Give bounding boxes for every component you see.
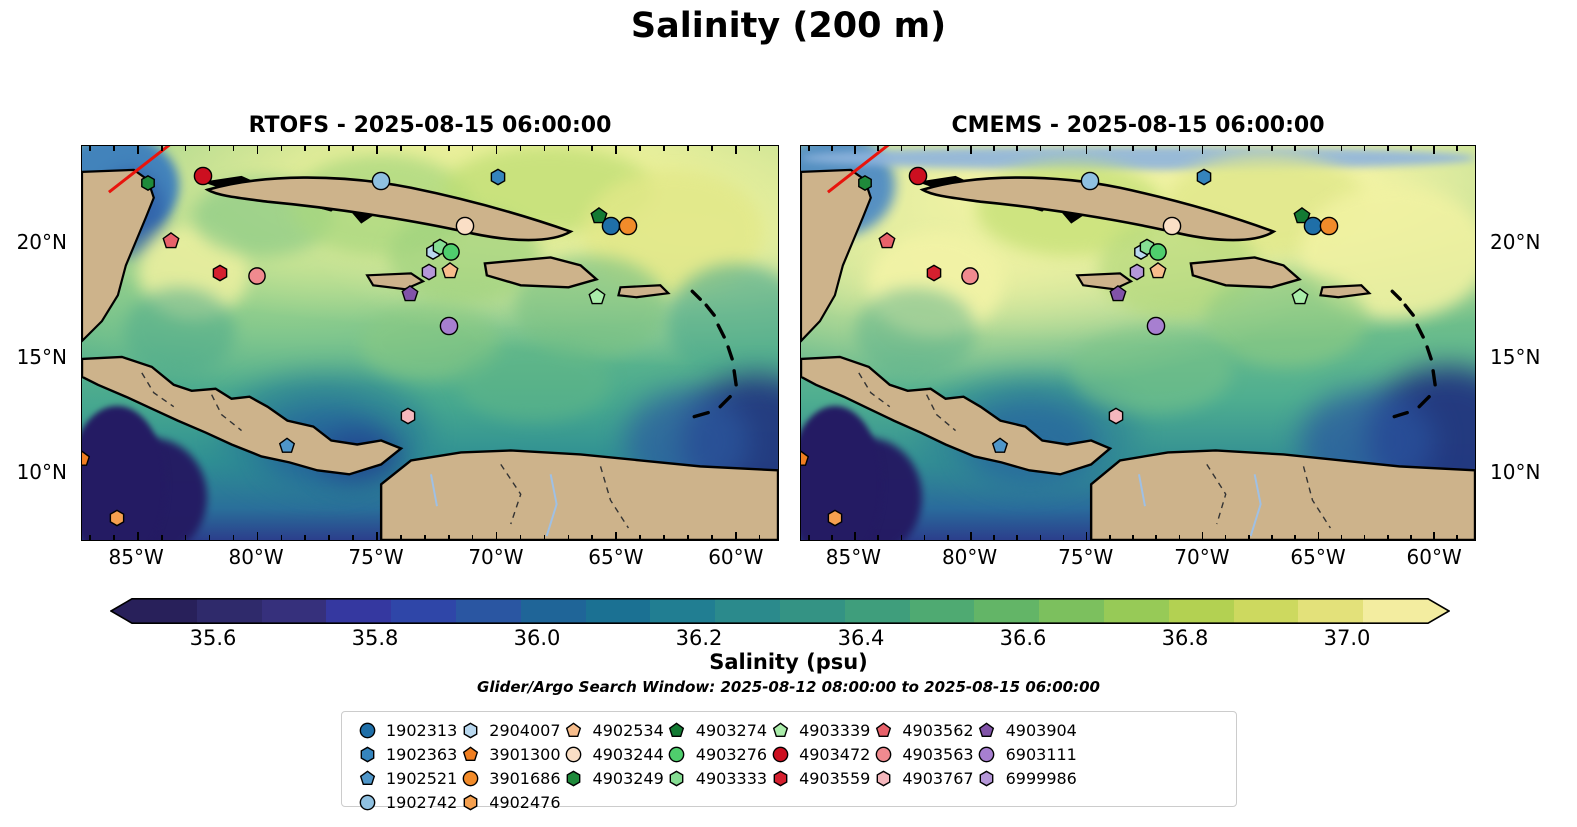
legend-marker-icon bbox=[870, 722, 896, 739]
legend-item-4903904[interactable]: 4903904 bbox=[974, 720, 1077, 741]
axis-tick bbox=[800, 196, 801, 198]
axis-tick bbox=[376, 532, 378, 541]
axis-tick bbox=[800, 151, 801, 153]
axis-tick bbox=[639, 535, 641, 541]
axis-tick bbox=[81, 151, 82, 153]
x-axis-tick-label: 80°W bbox=[228, 545, 283, 569]
axis-tick bbox=[448, 535, 450, 541]
colorbar-tick-label: 36.8 bbox=[1162, 626, 1209, 650]
axis-tick bbox=[800, 173, 801, 175]
axis-tick bbox=[113, 145, 115, 151]
x-axis-tick-label: 75°W bbox=[348, 545, 403, 569]
axis-tick bbox=[800, 403, 801, 405]
legend-item-4903339[interactable]: 4903339 bbox=[767, 720, 870, 741]
axis-tick bbox=[1433, 145, 1435, 154]
axis-tick bbox=[257, 145, 259, 154]
colorbar-tick-label: 36.4 bbox=[838, 626, 885, 650]
axis-tick bbox=[759, 535, 761, 541]
axis-tick bbox=[1063, 535, 1065, 541]
argo-markers-rtofs bbox=[82, 146, 778, 540]
argo-marker-4903472[interactable] bbox=[193, 166, 213, 186]
axis-tick bbox=[1179, 145, 1181, 151]
legend-item-label: 6903111 bbox=[1006, 745, 1077, 764]
legend-marker-icon bbox=[561, 722, 587, 739]
argo-marker-1902742[interactable] bbox=[371, 171, 391, 191]
argo-marker-4903249[interactable] bbox=[140, 175, 157, 192]
axis-tick bbox=[778, 311, 779, 313]
axis-tick bbox=[615, 145, 617, 154]
axis-tick bbox=[800, 448, 801, 450]
axis-tick bbox=[1086, 532, 1088, 541]
argo-marker-3901686[interactable] bbox=[618, 216, 638, 236]
axis-tick bbox=[1456, 535, 1458, 541]
axis-tick bbox=[1475, 494, 1476, 496]
legend-item-4903767[interactable]: 4903767 bbox=[870, 768, 973, 789]
legend-item-label: 1902521 bbox=[386, 769, 457, 788]
x-axis-tick-label: 60°W bbox=[1407, 545, 1462, 569]
legend-marker-icon bbox=[561, 770, 587, 787]
axis-tick bbox=[778, 403, 779, 405]
axis-tick bbox=[800, 494, 801, 496]
map-cmems[interactable] bbox=[800, 145, 1476, 541]
argo-marker-4902534[interactable] bbox=[441, 262, 460, 281]
legend-item-4903333[interactable]: 4903333 bbox=[664, 768, 767, 789]
axis-tick bbox=[81, 357, 82, 359]
axis-tick bbox=[1063, 145, 1065, 151]
axis-tick bbox=[759, 145, 761, 151]
legend-marker-icon bbox=[354, 770, 380, 787]
axis-tick bbox=[1475, 288, 1476, 290]
x-axis-tick-label: 85°W bbox=[826, 545, 881, 569]
axis-tick bbox=[113, 535, 115, 541]
argo-marker-6999986[interactable] bbox=[420, 263, 438, 281]
argo-marker-1902521[interactable] bbox=[991, 437, 1009, 455]
axis-tick bbox=[1410, 535, 1412, 541]
legend-item-1902363[interactable]: 1902363 bbox=[354, 744, 457, 765]
axis-tick bbox=[591, 535, 593, 541]
axis-tick bbox=[1475, 425, 1476, 427]
axis-tick bbox=[808, 535, 810, 541]
colorbar-tick-label: 35.6 bbox=[190, 626, 237, 650]
argo-marker-4903276[interactable] bbox=[441, 242, 460, 261]
axis-tick bbox=[1475, 334, 1476, 336]
argo-markers-cmems bbox=[801, 146, 1475, 540]
legend-item-label: 4903333 bbox=[696, 769, 767, 788]
legend-item-label: 4902476 bbox=[489, 793, 560, 812]
colorbar-segment bbox=[391, 598, 456, 624]
axis-tick bbox=[81, 219, 82, 221]
legend-item-label: 4903249 bbox=[593, 769, 664, 788]
axis-tick bbox=[1248, 145, 1250, 151]
legend-item-6903111[interactable]: 6903111 bbox=[974, 744, 1077, 765]
legend-column: 490327449032764903333 bbox=[664, 720, 767, 813]
argo-marker-4903339[interactable] bbox=[1290, 287, 1309, 306]
legend-item-label: 6999986 bbox=[1006, 769, 1077, 788]
argo-marker-1902742[interactable] bbox=[1080, 171, 1100, 191]
axis-tick bbox=[1294, 535, 1296, 541]
axis-tick bbox=[257, 532, 259, 541]
axis-tick bbox=[1341, 535, 1343, 541]
legend-item-label: 4903904 bbox=[1006, 721, 1077, 740]
panel-rtofs[interactable]: RTOFS - 2025-08-15 06:00:00 bbox=[81, 145, 779, 541]
axis-tick bbox=[1475, 540, 1476, 541]
axis-tick bbox=[800, 380, 801, 382]
colorbar-segment bbox=[650, 598, 715, 624]
argo-marker-4902534[interactable] bbox=[1148, 262, 1167, 281]
axis-tick bbox=[1475, 380, 1476, 382]
legend-item-4903563[interactable]: 4903563 bbox=[870, 744, 973, 765]
legend-item-6999986[interactable]: 6999986 bbox=[974, 768, 1077, 789]
legend-item-label: 1902742 bbox=[386, 793, 457, 812]
y-axis-tick-label: 15°N bbox=[17, 345, 67, 369]
argo-marker-4903244[interactable] bbox=[1162, 216, 1182, 236]
legend-item-label: 4903339 bbox=[799, 721, 870, 740]
axis-tick bbox=[735, 532, 737, 541]
argo-marker-3901300[interactable] bbox=[800, 450, 810, 468]
legend-marker-icon bbox=[664, 722, 690, 739]
axis-tick bbox=[233, 535, 235, 541]
legend-item-4902534[interactable]: 4902534 bbox=[561, 720, 664, 741]
colorbar-gradient bbox=[132, 598, 1428, 624]
legend-marker-icon bbox=[767, 722, 793, 739]
axis-tick bbox=[1341, 145, 1343, 151]
axis-tick bbox=[81, 311, 82, 313]
legend-item-4903276[interactable]: 4903276 bbox=[664, 744, 767, 765]
colorbar-tick-label: 36.6 bbox=[1000, 626, 1047, 650]
axis-tick bbox=[778, 334, 779, 336]
argo-marker-4903562[interactable] bbox=[878, 232, 897, 251]
axis-tick bbox=[800, 219, 801, 221]
axis-tick bbox=[1364, 535, 1366, 541]
axis-tick bbox=[1433, 532, 1435, 541]
legend-item-4903472[interactable]: 4903472 bbox=[767, 744, 870, 765]
argo-marker-4903563[interactable] bbox=[247, 267, 266, 286]
axis-tick bbox=[1475, 219, 1476, 221]
axis-tick bbox=[778, 288, 779, 290]
legend-marker-icon bbox=[974, 746, 1000, 763]
axis-tick bbox=[233, 145, 235, 151]
axis-tick bbox=[137, 532, 139, 541]
axis-tick bbox=[1364, 145, 1366, 151]
colorbar-segment bbox=[456, 598, 521, 624]
axis-tick bbox=[281, 145, 283, 151]
x-axis-tick-label: 75°W bbox=[1058, 545, 1113, 569]
legend-item-4903559[interactable]: 4903559 bbox=[767, 768, 870, 789]
axis-tick bbox=[544, 535, 546, 541]
axis-tick bbox=[1475, 517, 1476, 519]
axis-tick bbox=[1248, 535, 1250, 541]
legend-item-label: 3901686 bbox=[489, 769, 560, 788]
axis-tick bbox=[970, 532, 972, 541]
legend-item-1902313[interactable]: 1902313 bbox=[354, 720, 457, 741]
legend-item-label: 4903559 bbox=[799, 769, 870, 788]
argo-legend[interactable]: 1902313190236319025211902742290400739013… bbox=[341, 711, 1237, 807]
legend-item-label: 4903472 bbox=[799, 745, 870, 764]
axis-tick bbox=[778, 151, 779, 153]
axis-tick bbox=[800, 425, 801, 427]
axis-tick bbox=[137, 145, 139, 154]
argo-marker-4903563[interactable] bbox=[961, 267, 980, 286]
axis-tick bbox=[472, 535, 474, 541]
axis-tick bbox=[854, 145, 856, 154]
legend-item-1902521[interactable]: 1902521 bbox=[354, 768, 457, 789]
argo-marker-1902363[interactable] bbox=[1195, 168, 1213, 186]
axis-tick bbox=[89, 145, 91, 151]
axis-tick bbox=[1225, 145, 1227, 151]
axis-tick bbox=[376, 145, 378, 154]
axis-tick bbox=[800, 357, 801, 359]
axis-tick bbox=[711, 535, 713, 541]
colorbar-segment bbox=[1039, 598, 1104, 624]
colorbar-segment bbox=[521, 598, 586, 624]
axis-tick bbox=[1475, 471, 1476, 473]
axis-tick bbox=[328, 145, 330, 151]
axis-tick bbox=[496, 532, 498, 541]
colorbar-tick-label: 35.8 bbox=[352, 626, 399, 650]
axis-tick bbox=[778, 425, 779, 427]
axis-tick bbox=[663, 535, 665, 541]
argo-marker-4902476[interactable] bbox=[826, 509, 844, 527]
axis-tick bbox=[81, 494, 82, 496]
colorbar-tick-label: 36.2 bbox=[676, 626, 723, 650]
colorbar-tick-label: 37.0 bbox=[1324, 626, 1371, 650]
axis-tick bbox=[800, 471, 801, 473]
axis-tick bbox=[1475, 265, 1476, 267]
argo-marker-4903472[interactable] bbox=[908, 166, 928, 186]
axis-tick bbox=[81, 448, 82, 450]
legend-marker-icon bbox=[354, 794, 380, 811]
axis-tick bbox=[687, 535, 689, 541]
axis-tick bbox=[778, 173, 779, 175]
axis-tick bbox=[1132, 145, 1134, 151]
axis-tick bbox=[808, 145, 810, 151]
axis-tick bbox=[568, 535, 570, 541]
argo-marker-4903562[interactable] bbox=[162, 232, 181, 251]
argo-marker-4903559[interactable] bbox=[211, 264, 229, 282]
argo-marker-6903111[interactable] bbox=[1146, 316, 1166, 336]
legend-marker-icon bbox=[664, 770, 690, 787]
x-axis-tick-label: 65°W bbox=[588, 545, 643, 569]
colorbar-segment bbox=[197, 598, 262, 624]
legend-marker-icon bbox=[664, 746, 690, 763]
axis-tick bbox=[993, 535, 995, 541]
axis-tick bbox=[778, 517, 779, 519]
axis-tick bbox=[800, 265, 801, 267]
axis-tick bbox=[1294, 145, 1296, 151]
map-rtofs[interactable] bbox=[81, 145, 779, 541]
colorbar-segment bbox=[262, 598, 327, 624]
legend-marker-icon bbox=[457, 770, 483, 787]
axis-tick bbox=[1387, 145, 1389, 151]
legend-marker-icon bbox=[767, 770, 793, 787]
legend-marker-icon bbox=[354, 722, 380, 739]
axis-tick bbox=[1132, 535, 1134, 541]
axis-tick bbox=[1109, 145, 1111, 151]
axis-tick bbox=[520, 535, 522, 541]
legend-marker-icon bbox=[354, 746, 380, 763]
panel-cmems[interactable]: CMEMS - 2025-08-15 06:00:00 bbox=[800, 145, 1476, 541]
colorbar[interactable]: 35.635.836.036.236.436.636.837.0 bbox=[110, 598, 1450, 624]
axis-tick bbox=[81, 540, 82, 541]
axis-tick bbox=[831, 145, 833, 151]
colorbar-extend-max bbox=[1428, 598, 1450, 624]
axis-tick bbox=[663, 145, 665, 151]
axis-tick bbox=[1271, 145, 1273, 151]
argo-marker-4903249[interactable] bbox=[857, 175, 874, 192]
colorbar-segment bbox=[715, 598, 780, 624]
axis-tick bbox=[1155, 535, 1157, 541]
x-axis-tick-label: 70°W bbox=[468, 545, 523, 569]
argo-marker-3901686[interactable] bbox=[1319, 216, 1339, 236]
axis-tick bbox=[778, 448, 779, 450]
legend-item-3901300[interactable]: 3901300 bbox=[457, 744, 560, 765]
axis-tick bbox=[924, 535, 926, 541]
legend-item-4903274[interactable]: 4903274 bbox=[664, 720, 767, 741]
colorbar-segment bbox=[1104, 598, 1169, 624]
axis-tick bbox=[735, 145, 737, 154]
axis-tick bbox=[1456, 145, 1458, 151]
legend-marker-icon bbox=[974, 770, 1000, 787]
argo-marker-4903339[interactable] bbox=[588, 287, 607, 306]
axis-tick bbox=[81, 196, 82, 198]
legend-item-3901686[interactable]: 3901686 bbox=[457, 768, 560, 789]
argo-marker-1902521[interactable] bbox=[278, 437, 296, 455]
colorbar-segment bbox=[132, 598, 197, 624]
legend-column: 490253449032444903249 bbox=[561, 720, 664, 813]
axis-tick bbox=[1475, 403, 1476, 405]
legend-column: 490390469031116999986 bbox=[974, 720, 1077, 813]
colorbar-tick-label: 36.0 bbox=[514, 626, 561, 650]
legend-item-label: 4903563 bbox=[902, 745, 973, 764]
axis-tick bbox=[1202, 532, 1204, 541]
axis-tick bbox=[1040, 145, 1042, 151]
axis-tick bbox=[1410, 145, 1412, 151]
legend-item-label: 4903276 bbox=[696, 745, 767, 764]
axis-tick bbox=[1318, 532, 1320, 541]
legend-item-4903249[interactable]: 4903249 bbox=[561, 768, 664, 789]
colorbar-segment bbox=[845, 598, 910, 624]
argo-marker-6903111[interactable] bbox=[439, 316, 459, 336]
argo-marker-4903904[interactable] bbox=[1109, 284, 1128, 303]
axis-tick bbox=[161, 535, 163, 541]
colorbar-segment bbox=[1363, 598, 1428, 624]
axis-tick bbox=[81, 173, 82, 175]
legend-item-4902476[interactable]: 4902476 bbox=[457, 792, 560, 813]
axis-tick bbox=[778, 219, 779, 221]
axis-tick bbox=[81, 242, 82, 244]
axis-tick bbox=[1475, 151, 1476, 153]
argo-marker-4903244[interactable] bbox=[455, 216, 475, 236]
argo-marker-4903904[interactable] bbox=[400, 284, 419, 303]
legend-item-label: 1902363 bbox=[386, 745, 457, 764]
x-axis-tick-label: 70°W bbox=[1174, 545, 1229, 569]
axis-tick bbox=[161, 145, 163, 151]
legend-marker-icon bbox=[870, 770, 896, 787]
y-axis-tick-label: 20°N bbox=[17, 230, 67, 254]
axis-tick bbox=[81, 517, 82, 519]
legend-item-2904007[interactable]: 2904007 bbox=[457, 720, 560, 741]
y-axis-tick-label: 10°N bbox=[1490, 460, 1540, 484]
axis-tick bbox=[81, 265, 82, 267]
axis-tick bbox=[778, 196, 779, 198]
axis-tick bbox=[424, 145, 426, 151]
y-axis-tick-label: 10°N bbox=[17, 460, 67, 484]
legend-marker-icon bbox=[974, 722, 1000, 739]
colorbar-segment bbox=[326, 598, 391, 624]
legend-item-label: 3901300 bbox=[489, 745, 560, 764]
argo-marker-6999986[interactable] bbox=[1128, 263, 1146, 281]
argo-marker-4903276[interactable] bbox=[1149, 242, 1168, 261]
x-axis-tick-label: 65°W bbox=[1290, 545, 1345, 569]
axis-tick bbox=[1109, 535, 1111, 541]
panel-title-rtofs: RTOFS - 2025-08-15 06:00:00 bbox=[81, 113, 779, 138]
axis-tick bbox=[448, 145, 450, 151]
legend-item-label: 2904007 bbox=[489, 721, 560, 740]
legend-item-4903244[interactable]: 4903244 bbox=[561, 744, 664, 765]
colorbar-segment bbox=[910, 598, 975, 624]
axis-tick bbox=[81, 288, 82, 290]
colorbar-segment bbox=[586, 598, 651, 624]
legend-marker-icon bbox=[767, 746, 793, 763]
y-axis-tick-label: 20°N bbox=[1490, 230, 1540, 254]
axis-tick bbox=[1016, 535, 1018, 541]
axis-tick bbox=[89, 535, 91, 541]
axis-tick bbox=[352, 145, 354, 151]
axis-tick bbox=[1475, 196, 1476, 198]
argo-marker-4903559[interactable] bbox=[925, 264, 943, 282]
axis-tick bbox=[568, 145, 570, 151]
axis-tick bbox=[1086, 145, 1088, 154]
axis-tick bbox=[1475, 357, 1476, 359]
axis-tick bbox=[1387, 535, 1389, 541]
axis-tick bbox=[81, 334, 82, 336]
legend-item-label: 4902534 bbox=[593, 721, 664, 740]
axis-tick bbox=[947, 535, 949, 541]
axis-tick bbox=[901, 145, 903, 151]
colorbar-segment bbox=[1169, 598, 1234, 624]
legend-item-1902742[interactable]: 1902742 bbox=[354, 792, 457, 813]
figure-title: Salinity (200 m) bbox=[0, 6, 1577, 46]
axis-tick bbox=[1225, 535, 1227, 541]
argo-marker-4903767[interactable] bbox=[1107, 407, 1125, 425]
x-axis-tick-label: 85°W bbox=[109, 545, 164, 569]
axis-tick bbox=[81, 425, 82, 427]
axis-tick bbox=[778, 265, 779, 267]
search-window-text: Glider/Argo Search Window: 2025-08-12 08… bbox=[0, 678, 1577, 696]
axis-tick bbox=[615, 532, 617, 541]
axis-tick bbox=[711, 145, 713, 151]
legend-marker-icon bbox=[457, 722, 483, 739]
axis-tick bbox=[352, 535, 354, 541]
axis-tick bbox=[185, 145, 187, 151]
axis-tick bbox=[81, 471, 82, 473]
axis-tick bbox=[520, 145, 522, 151]
legend-item-label: 4903274 bbox=[696, 721, 767, 740]
axis-tick bbox=[687, 145, 689, 151]
argo-marker-1902363[interactable] bbox=[489, 168, 507, 186]
axis-tick bbox=[1040, 535, 1042, 541]
legend-item-4903562[interactable]: 4903562 bbox=[870, 720, 973, 741]
x-axis-tick-label: 80°W bbox=[942, 545, 997, 569]
argo-marker-4902476[interactable] bbox=[108, 509, 126, 527]
legend-marker-icon bbox=[457, 746, 483, 763]
argo-marker-4903767[interactable] bbox=[399, 407, 417, 425]
axis-tick bbox=[778, 494, 779, 496]
legend-marker-icon bbox=[870, 746, 896, 763]
argo-marker-3901300[interactable] bbox=[81, 450, 91, 468]
axis-tick bbox=[1475, 311, 1476, 313]
axis-tick bbox=[209, 535, 211, 541]
